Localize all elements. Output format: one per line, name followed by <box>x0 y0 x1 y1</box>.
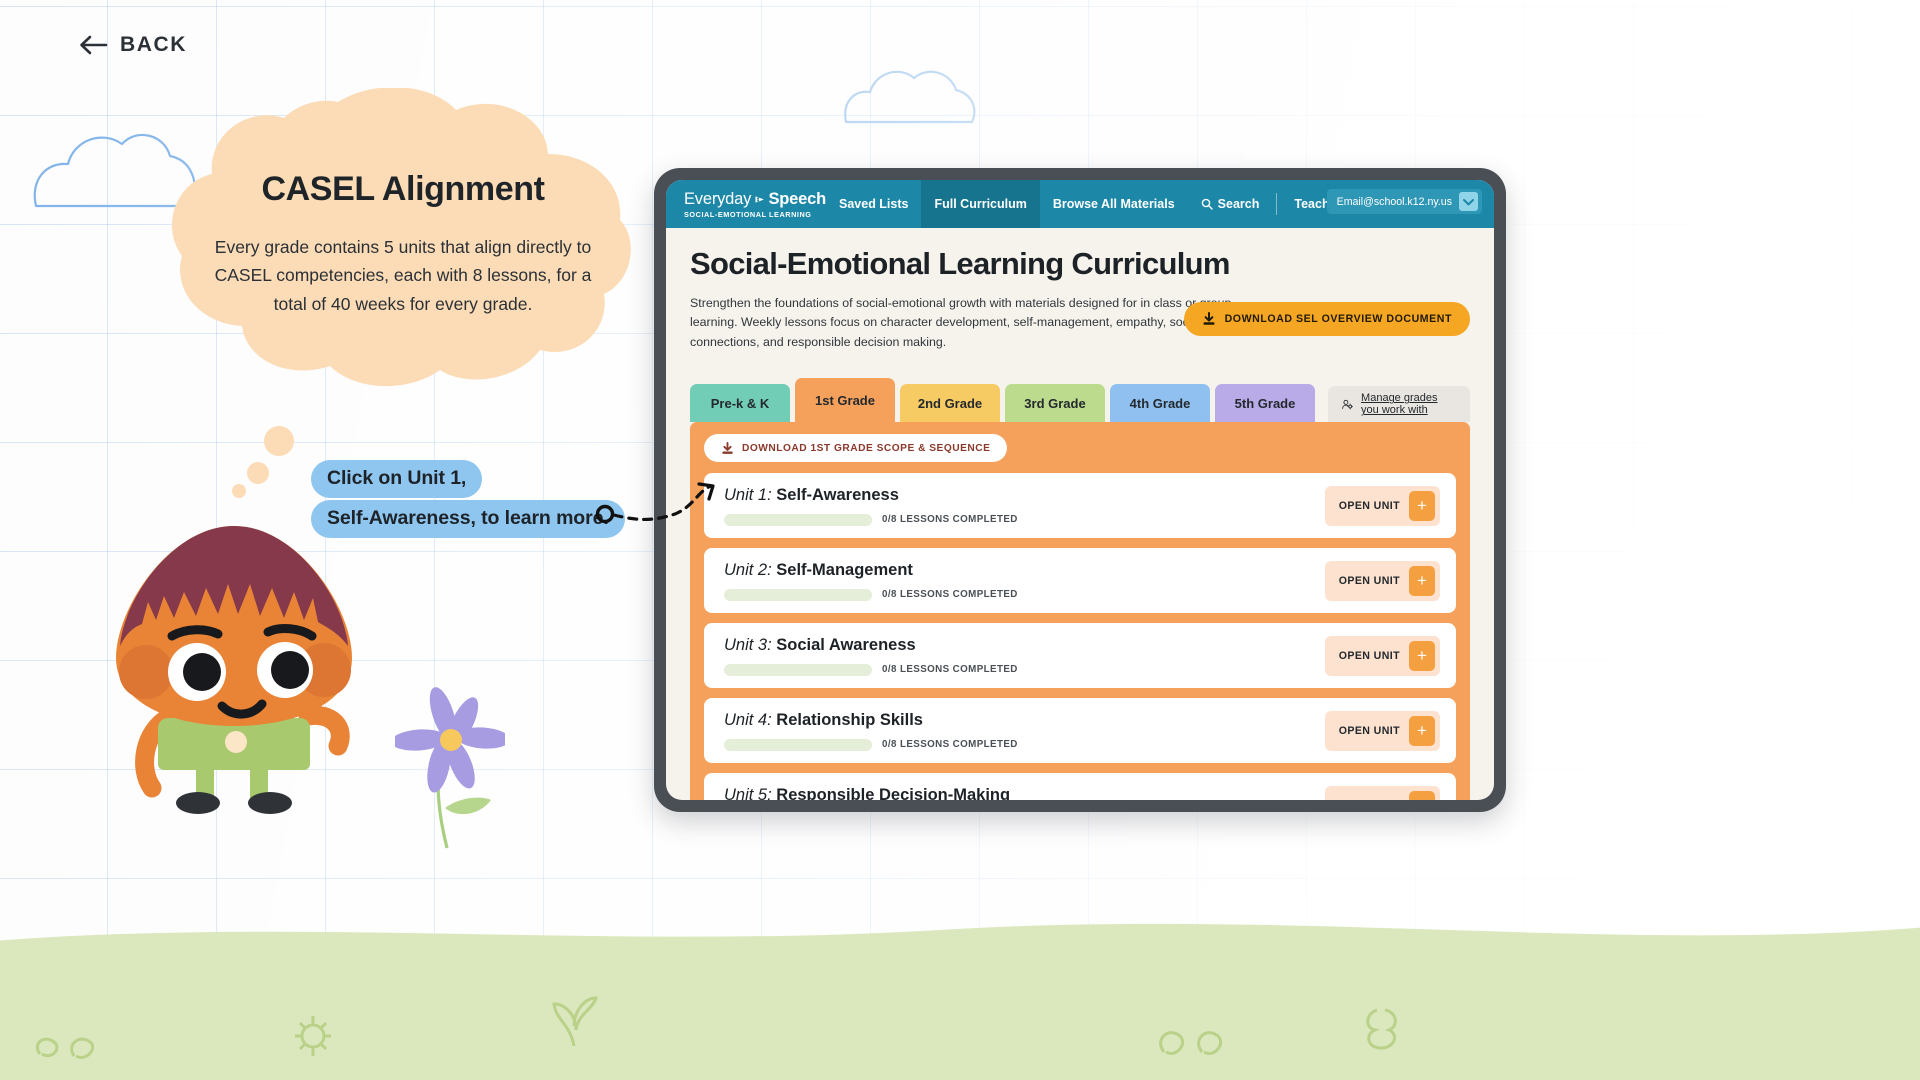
grade-tab-3rd[interactable]: 3rd Grade <box>1005 384 1105 422</box>
download-scope-sequence-button[interactable]: DOWNLOAD 1ST GRADE SCOPE & SEQUENCE <box>704 434 1007 462</box>
unit-info: Unit 3: Social Awareness 0/8 LESSONS COM… <box>724 636 1018 676</box>
nav-saved-lists[interactable]: Saved Lists <box>826 180 921 228</box>
ground-doodle-right2 <box>1355 1000 1415 1058</box>
manage-grades-button[interactable]: Manage grades you work with <box>1328 386 1470 422</box>
tablet-frame: Everyday Speech SOCIAL-EMOTIONAL LEARNIN… <box>654 168 1506 812</box>
unit-row[interactable]: Unit 3: Social Awareness 0/8 LESSONS COM… <box>704 623 1456 688</box>
progress-label: 0/8 LESSONS COMPLETED <box>882 589 1018 600</box>
grade-tabs: Pre-k & K 1st Grade 2nd Grade 3rd Grade … <box>666 378 1494 422</box>
progress-label: 0/8 LESSONS COMPLETED <box>882 739 1018 750</box>
progress-label: 0/8 LESSONS COMPLETED <box>882 664 1018 675</box>
units-panel: DOWNLOAD 1ST GRADE SCOPE & SEQUENCE Unit… <box>690 422 1470 800</box>
tablet-screen: Everyday Speech SOCIAL-EMOTIONAL LEARNIN… <box>666 180 1494 800</box>
progress-label: 0/8 LESSONS COMPLETED <box>882 514 1018 525</box>
plus-icon[interactable]: + <box>1409 491 1435 521</box>
nav-saved-lists-label: Saved Lists <box>839 197 908 211</box>
unit-info: Unit 4: Relationship Skills 0/8 LESSONS … <box>724 711 1018 751</box>
unit-prefix: Unit 4: <box>724 711 772 729</box>
download-icon <box>1202 312 1216 326</box>
ground-doodle-sprout <box>540 980 610 1050</box>
ground-doodle-left <box>30 1010 120 1066</box>
unit-progress: 0/8 LESSONS COMPLETED <box>724 664 1018 676</box>
unit-progress: 0/8 LESSONS COMPLETED <box>724 514 1018 526</box>
ground-doodle-gear <box>288 1010 338 1062</box>
open-unit-button[interactable]: OPEN UNIT + <box>1325 561 1440 601</box>
unit-info: Unit 1: Self-Awareness 0/8 LESSONS COMPL… <box>724 486 1018 526</box>
nav-browse-all-materials[interactable]: Browse All Materials <box>1040 180 1188 228</box>
chevron-down-icon <box>1459 192 1478 211</box>
plus-icon[interactable]: + <box>1409 716 1435 746</box>
download-scope-label: DOWNLOAD 1ST GRADE SCOPE & SEQUENCE <box>742 443 990 454</box>
arrow-left-icon <box>78 34 108 56</box>
plus-icon[interactable]: + <box>1409 566 1435 596</box>
account-email: Email@school.k12.ny.us <box>1337 196 1452 208</box>
casel-title: CASEL Alignment <box>261 170 544 209</box>
thought-dot-small <box>232 484 246 498</box>
unit-name: Responsible Decision-Making <box>776 786 1010 800</box>
open-unit-label: OPEN UNIT <box>1339 725 1400 737</box>
grade-tab-prek[interactable]: Pre-k & K <box>690 384 790 422</box>
grade-tab-4th-label: 4th Grade <box>1130 396 1191 411</box>
grade-tab-1st[interactable]: 1st Grade <box>795 378 895 422</box>
grade-tab-5th[interactable]: 5th Grade <box>1215 384 1315 422</box>
progress-bar <box>724 514 872 526</box>
unit-progress: 0/8 LESSONS COMPLETED <box>724 589 1018 601</box>
open-unit-label: OPEN UNIT <box>1339 575 1400 587</box>
cloud-top-icon <box>840 58 982 136</box>
open-unit-button[interactable]: OPEN UNIT + <box>1325 636 1440 676</box>
page-header: Social-Emotional Learning Curriculum Str… <box>666 228 1494 352</box>
unit-row[interactable]: Unit 2: Self-Management 0/8 LESSONS COMP… <box>704 548 1456 613</box>
thought-dot-medium <box>247 462 269 484</box>
unit-row[interactable]: Unit 1: Self-Awareness 0/8 LESSONS COMPL… <box>704 473 1456 538</box>
nav-full-curriculum[interactable]: Full Curriculum <box>921 180 1039 228</box>
unit-name: Self-Management <box>776 561 913 579</box>
download-sel-overview-label: DOWNLOAD SEL OVERVIEW DOCUMENT <box>1225 313 1452 325</box>
unit-title: Unit 1: Self-Awareness <box>724 486 1018 505</box>
grade-tab-3rd-label: 3rd Grade <box>1024 396 1085 411</box>
flower-decoration <box>395 676 505 856</box>
open-unit-label: OPEN UNIT <box>1339 500 1400 512</box>
unit-name: Social Awareness <box>776 636 915 654</box>
nav-search-label: Search <box>1218 197 1260 211</box>
nav-divider <box>1276 193 1277 215</box>
grade-tab-4th[interactable]: 4th Grade <box>1110 384 1210 422</box>
download-icon <box>721 442 734 455</box>
unit-info: Unit 2: Self-Management 0/8 LESSONS COMP… <box>724 561 1018 601</box>
grade-tab-2nd[interactable]: 2nd Grade <box>900 384 1000 422</box>
grade-tab-5th-label: 5th Grade <box>1235 396 1296 411</box>
logo-tagline: SOCIAL-EMOTIONAL LEARNING <box>684 210 826 219</box>
page-description: Strengthen the foundations of social-emo… <box>690 294 1250 352</box>
account-dropdown[interactable]: Email@school.k12.ny.us <box>1327 189 1482 214</box>
tip-line-1: Click on Unit 1, <box>311 460 482 498</box>
unit-title: Unit 4: Relationship Skills <box>724 711 1018 730</box>
progress-bar <box>724 739 872 751</box>
open-unit-button[interactable]: OPEN UNIT + <box>1325 486 1440 526</box>
progress-bar <box>724 664 872 676</box>
plus-icon[interactable]: + <box>1409 641 1435 671</box>
open-unit-button[interactable]: OPEN UNIT + <box>1325 711 1440 751</box>
back-button[interactable]: BACK <box>78 33 187 57</box>
ground-doodle-right1 <box>1150 1000 1240 1062</box>
unit-title: Unit 2: Self-Management <box>724 561 1018 580</box>
app-navbar: Everyday Speech SOCIAL-EMOTIONAL LEARNIN… <box>666 180 1494 228</box>
unit-prefix: Unit 3: <box>724 636 772 654</box>
search-icon <box>1201 198 1213 210</box>
thought-dot-large <box>264 426 294 456</box>
tip-callout: Click on Unit 1, Self-Awareness, to lear… <box>311 460 625 538</box>
casel-thought-bubble: CASEL Alignment Every grade contains 5 u… <box>168 88 638 400</box>
unit-name: Self-Awareness <box>776 486 899 504</box>
nav-search[interactable]: Search <box>1188 180 1273 228</box>
user-gear-icon <box>1342 397 1353 412</box>
plus-icon[interactable]: + <box>1409 791 1435 800</box>
casel-body: Every grade contains 5 units that align … <box>204 233 602 319</box>
manage-grades-label: Manage grades you work with <box>1361 392 1456 416</box>
mascot-character <box>80 520 400 820</box>
thought-content: CASEL Alignment Every grade contains 5 u… <box>168 88 638 400</box>
grade-tab-1st-label: 1st Grade <box>815 393 875 408</box>
nav-browse-all-label: Browse All Materials <box>1053 197 1175 211</box>
back-label: BACK <box>120 33 187 57</box>
unit-prefix: Unit 2: <box>724 561 772 579</box>
unit-name: Relationship Skills <box>776 711 923 729</box>
unit-row[interactable]: Unit 4: Relationship Skills 0/8 LESSONS … <box>704 698 1456 763</box>
logo-word-speech: Speech <box>769 190 827 209</box>
grade-tab-2nd-label: 2nd Grade <box>918 396 982 411</box>
unit-info: Unit 5: Responsible Decision-Making 0/8 … <box>724 786 1018 800</box>
brand-logo[interactable]: Everyday Speech SOCIAL-EMOTIONAL LEARNIN… <box>684 190 826 219</box>
page-root: BACK CASEL Alignment Every grade contain… <box>0 0 1920 1080</box>
grade-tab-prek-label: Pre-k & K <box>711 396 770 411</box>
tip-line-2: Self-Awareness, to learn more. <box>311 500 625 538</box>
open-unit-button[interactable]: OPEN UNIT + <box>1325 786 1440 800</box>
progress-bar <box>724 589 872 601</box>
nav-full-curriculum-label: Full Curriculum <box>934 197 1026 211</box>
download-sel-overview-button[interactable]: DOWNLOAD SEL OVERVIEW DOCUMENT <box>1184 302 1470 336</box>
tip-connector-arrow <box>595 470 735 550</box>
unit-title: Unit 3: Social Awareness <box>724 636 1018 655</box>
play-badge-icon <box>755 191 764 208</box>
page-title: Social-Emotional Learning Curriculum <box>690 246 1470 282</box>
unit-title: Unit 5: Responsible Decision-Making <box>724 786 1018 800</box>
open-unit-label: OPEN UNIT <box>1339 650 1400 662</box>
unit-progress: 0/8 LESSONS COMPLETED <box>724 739 1018 751</box>
logo-word-everyday: Everyday <box>684 190 751 209</box>
unit-prefix: Unit 5: <box>724 786 772 800</box>
unit-row[interactable]: Unit 5: Responsible Decision-Making 0/8 … <box>704 773 1456 800</box>
